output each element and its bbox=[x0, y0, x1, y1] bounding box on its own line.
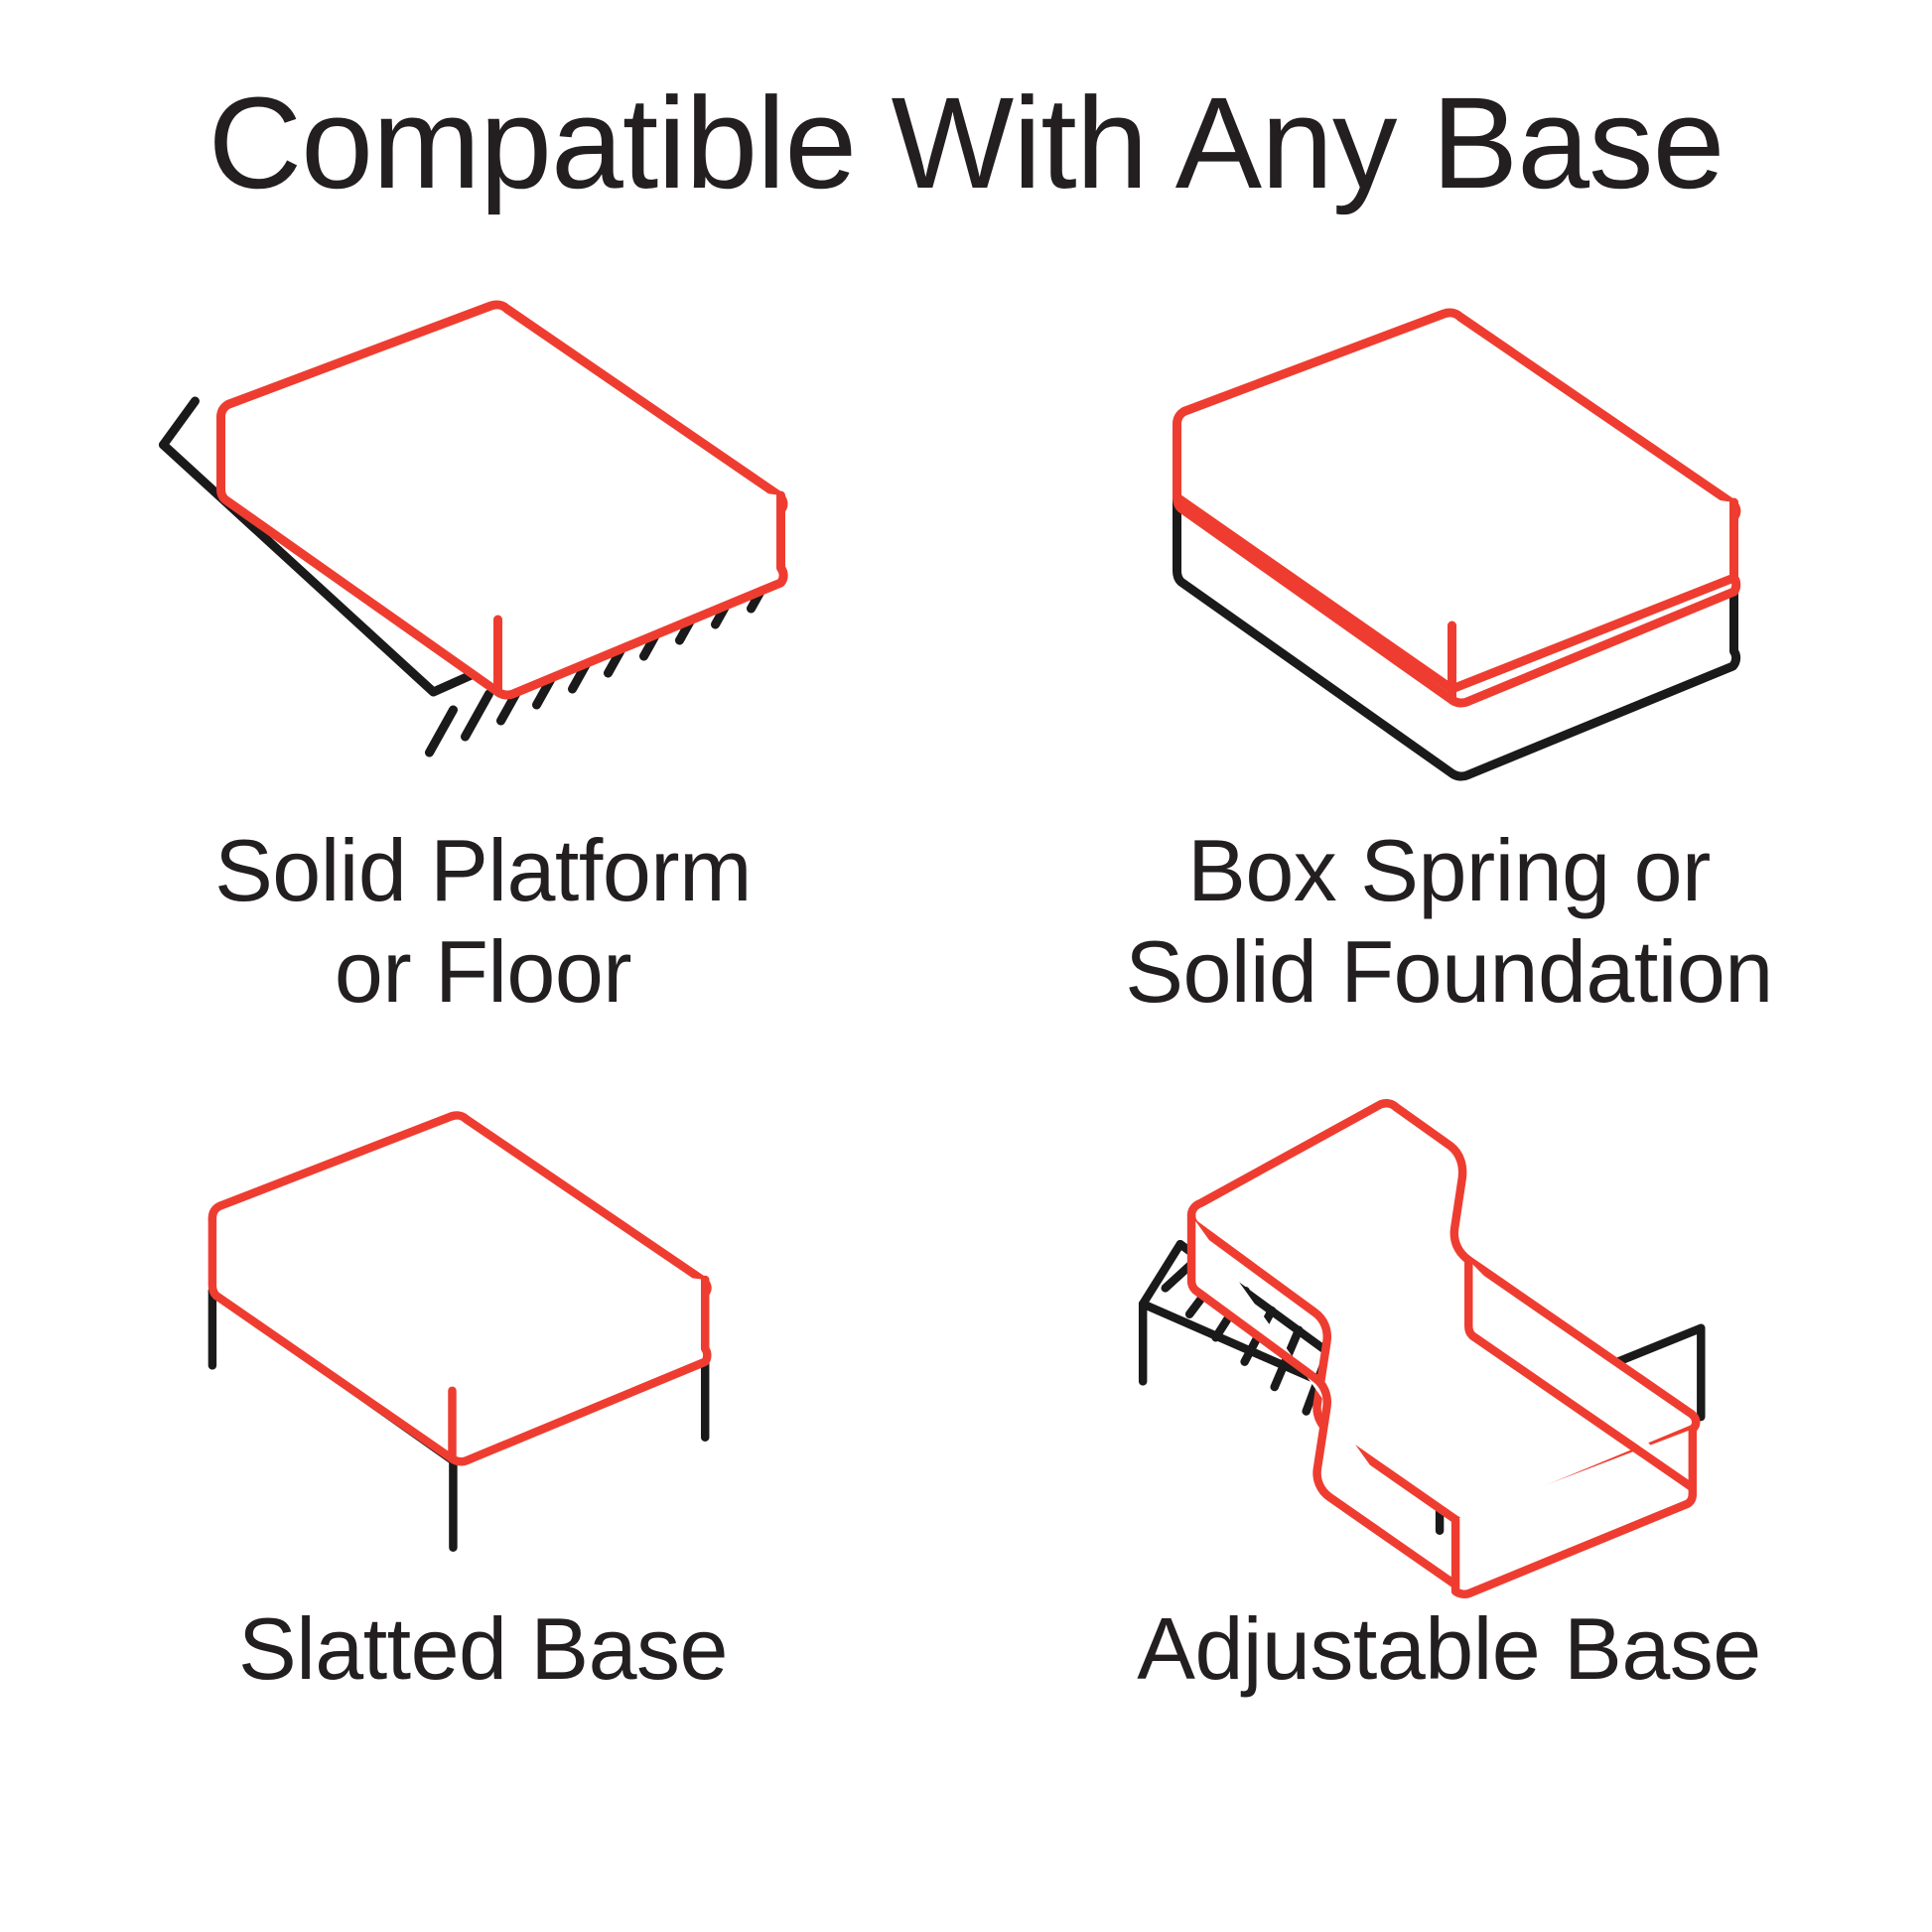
mattress-on-box-spring-icon bbox=[966, 298, 1932, 794]
infographic-page: Compatible With Any Base bbox=[0, 0, 1932, 1932]
caption-line-2: Solid Foundation bbox=[1125, 921, 1772, 1023]
caption-line-2: or Floor bbox=[214, 921, 752, 1023]
caption-line-1: Adjustable Base bbox=[1137, 1598, 1760, 1700]
base-option-caption: Solid Platform or Floor bbox=[214, 820, 752, 1023]
mattress-on-slatted-base-icon bbox=[0, 1092, 966, 1559]
caption-line-1: Solid Platform bbox=[214, 820, 752, 921]
caption-line-1: Box Spring or bbox=[1125, 820, 1772, 921]
base-option-slatted: Slatted Base bbox=[0, 1092, 966, 1886]
caption-line-1: Slatted Base bbox=[238, 1598, 728, 1700]
base-option-caption: Box Spring or Solid Foundation bbox=[1125, 820, 1772, 1023]
base-options-grid: Solid Platform or Floor bbox=[0, 298, 1932, 1886]
mattress-on-floor-icon bbox=[0, 298, 966, 794]
base-option-box-spring: Box Spring or Solid Foundation bbox=[966, 298, 1932, 1092]
base-option-caption: Adjustable Base bbox=[1137, 1598, 1760, 1700]
base-option-caption: Slatted Base bbox=[238, 1598, 728, 1700]
page-title: Compatible With Any Base bbox=[0, 77, 1932, 207]
base-option-adjustable: Adjustable Base bbox=[966, 1092, 1932, 1886]
base-option-solid-platform: Solid Platform or Floor bbox=[0, 298, 966, 1092]
mattress-on-adjustable-base-icon bbox=[966, 1092, 1932, 1559]
